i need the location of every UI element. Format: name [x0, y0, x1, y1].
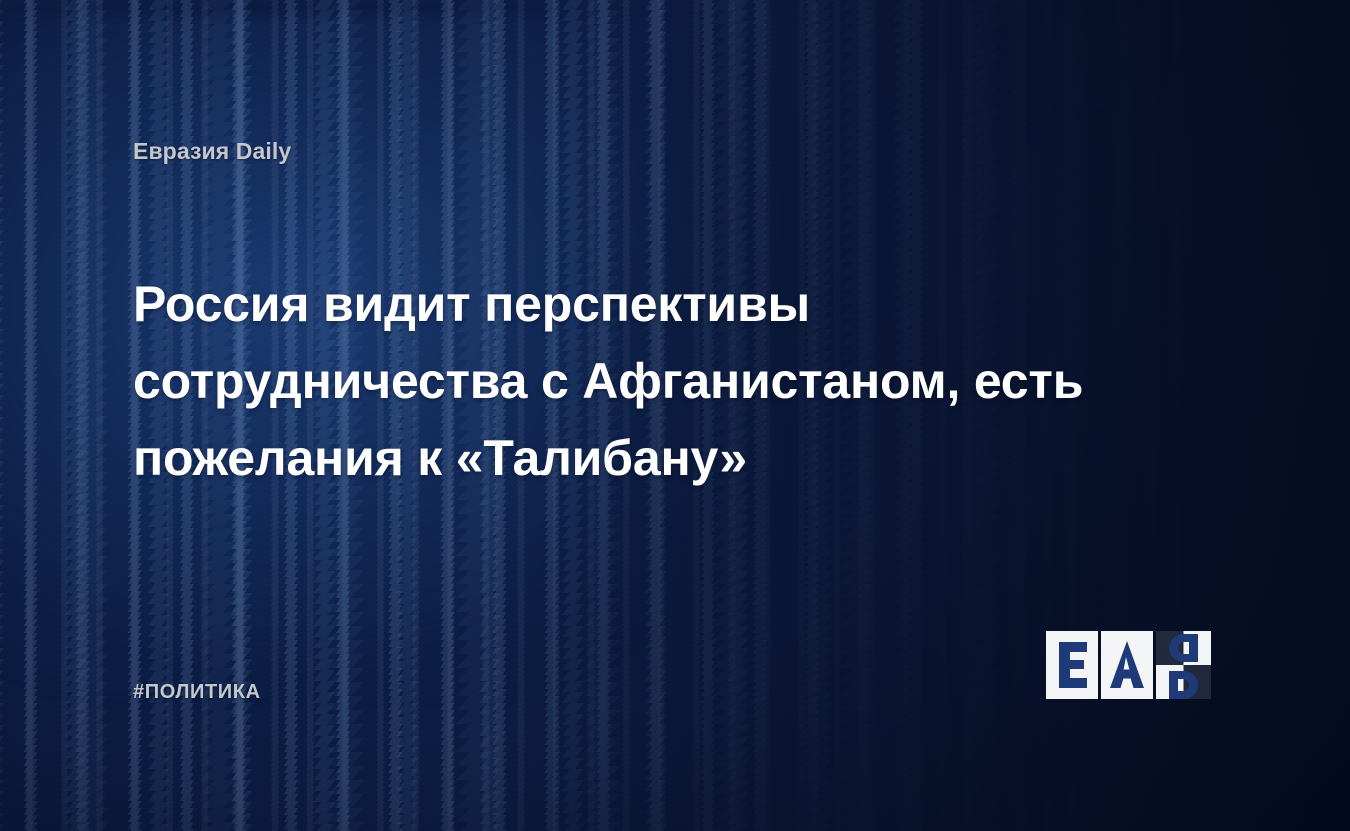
card-content: Евразия Daily Россия видит перспективы с…	[0, 0, 1350, 831]
letter-a-icon	[1101, 631, 1153, 699]
letter-e-icon	[1046, 631, 1098, 699]
logo-tile-d-split	[1156, 631, 1211, 699]
brand-name: Евразия Daily	[133, 138, 291, 165]
logo-tile-a	[1101, 631, 1153, 699]
social-share-card: Евразия Daily Россия видит перспективы с…	[0, 0, 1350, 831]
letter-d-split-icon	[1156, 631, 1211, 699]
page-title: Россия видит перспективы сотрудничества …	[133, 266, 1213, 497]
eadaily-logo	[1046, 631, 1211, 699]
category-tag: #ПОЛИТИКА	[133, 681, 261, 704]
logo-tile-e	[1046, 631, 1098, 699]
